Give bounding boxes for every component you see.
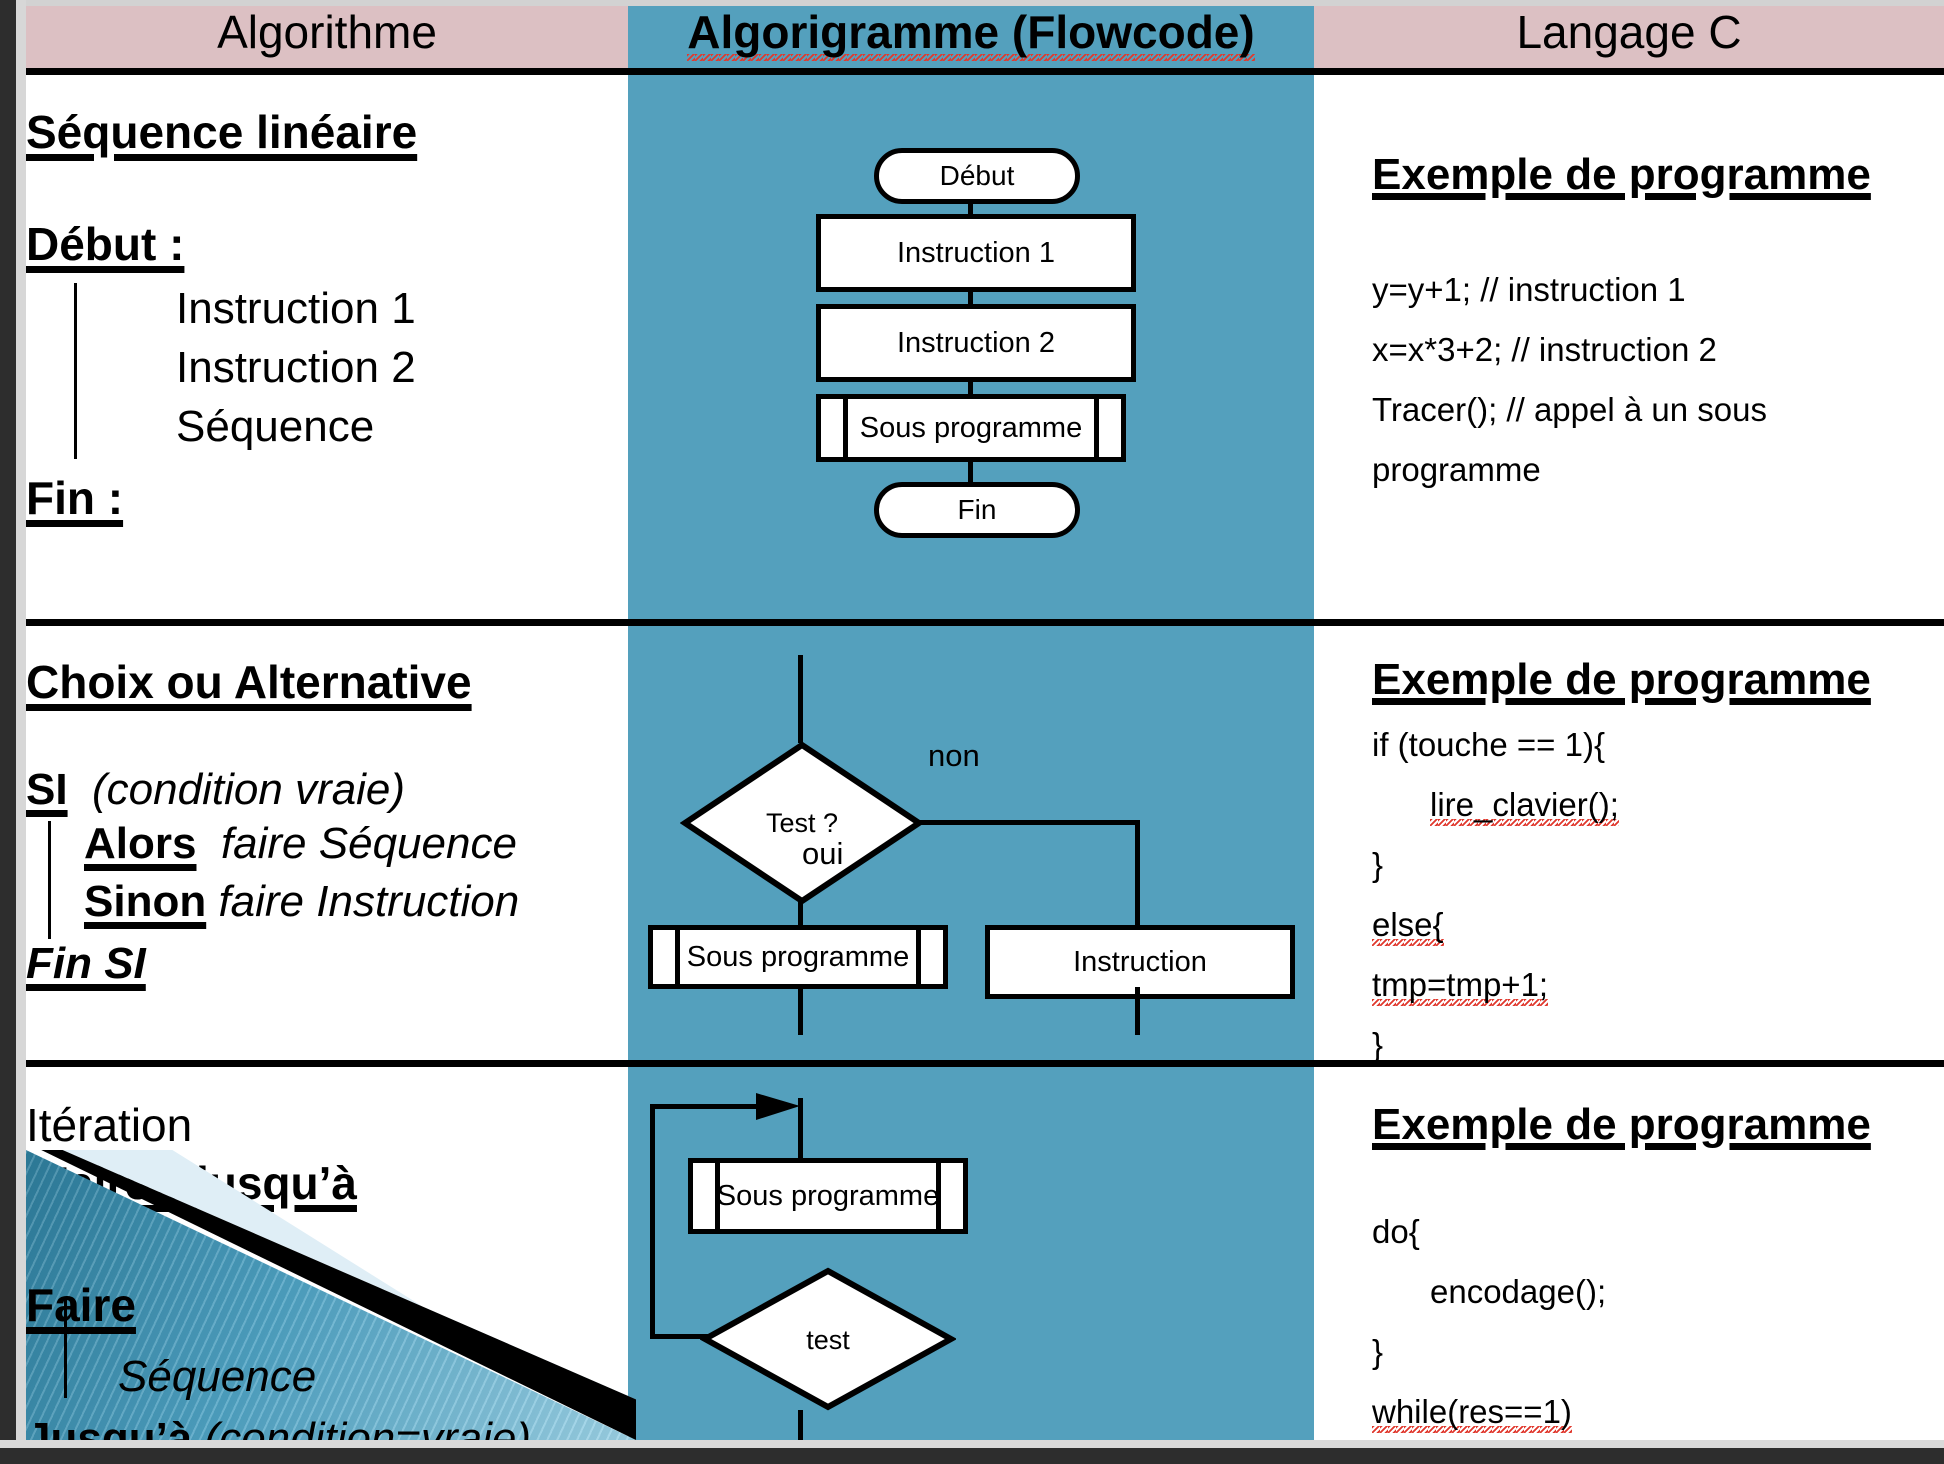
row1-line-3: Séquence <box>176 397 626 456</box>
row2-c-title: Exemple de programme <box>1372 655 1932 705</box>
row2-conn-exit-right <box>1135 987 1140 1035</box>
row1-brace <box>74 283 77 459</box>
row3-c-line-4: while(res==1) <box>1372 1393 1572 1437</box>
row3-c-line-3: } <box>1372 1322 1932 1382</box>
header-algorigramme-word: Algorigramme <box>687 6 999 65</box>
row1-c-title: Exemple de programme <box>1372 150 1932 200</box>
row3-decision-label: test <box>700 1325 956 1356</box>
row2-c-line-3: } <box>1372 835 1932 895</box>
row3-loop-arrowhead-icon <box>756 1090 806 1124</box>
row1-fin: Fin : <box>26 471 123 525</box>
row2-finsi: Fin SI <box>26 939 146 989</box>
row3-c-block: Exemple de programme do{ encodage(); } w… <box>1372 1100 1932 1442</box>
row2-sinon: Sinon <box>84 877 206 926</box>
row2-c-line-4: else{ <box>1372 906 1444 950</box>
frame-bottom-inner <box>0 1440 1944 1448</box>
row2-conn-non-h <box>918 820 1140 825</box>
row2-algorithm-block: Choix ou Alternative SI (condition vraie… <box>26 655 626 989</box>
row3-title-iteration: Itération <box>26 1098 626 1152</box>
row1-c-line-3: Tracer(); // appel à un sous <box>1372 380 1932 440</box>
row1-debut: Début : <box>26 217 184 271</box>
row2-c-line-6: } <box>1372 1015 1932 1075</box>
frame-left <box>0 0 16 1464</box>
row2-decision-label: Test ? <box>680 808 924 839</box>
row3-brace <box>64 1298 67 1398</box>
row1-algorithm-block: Séquence linéaire Début : Instruction 1 … <box>26 105 626 525</box>
row2-c-line-1: if (touche == 1){ <box>1372 715 1932 775</box>
row3-loop-rail-vertical <box>650 1104 655 1338</box>
row1-node-fin: Fin <box>874 482 1080 538</box>
row3-loop-rail-top <box>650 1104 770 1109</box>
row1-c-block: Exemple de programme y=y+1; // instructi… <box>1372 150 1932 500</box>
frame-top <box>0 0 1944 6</box>
row3-c-line-2: encodage(); <box>1430 1262 1932 1322</box>
row2-c-block: Exemple de programme if (touche == 1){ l… <box>1372 655 1932 1075</box>
row2-alors: Alors <box>84 819 196 868</box>
row2-c-line-2: lire_clavier(); <box>1430 786 1619 830</box>
row2-c-line-5: tmp=tmp+1; <box>1372 966 1548 1010</box>
row1-c-line-2: x=x*3+2; // instruction 2 <box>1372 320 1932 380</box>
row2-conn-exit-left <box>798 987 803 1035</box>
header-langage-c: Langage C <box>1314 0 1944 68</box>
row2-conn-non-v <box>1135 820 1140 928</box>
frame-left-inner <box>16 0 26 1464</box>
row3-c-title: Exemple de programme <box>1372 1100 1932 1150</box>
row1-c-line-1: y=y+1; // instruction 1 <box>1372 260 1932 320</box>
row1-c-line-4: programme <box>1372 440 1932 500</box>
row2-conn-oui-v <box>798 900 803 928</box>
header-algorithme: Algorithme <box>26 0 628 68</box>
row2-node-sousprogramme: Sous programme <box>648 925 948 989</box>
header-algorigramme-flowcode: (Flowcode) <box>999 6 1255 65</box>
row1-node-debut: Début <box>874 148 1080 204</box>
row3-faire: Faire <box>26 1279 136 1331</box>
divider-row1 <box>0 619 1944 626</box>
row1-node-instruction2: Instruction 2 <box>816 304 1136 382</box>
row2-alors-rest: faire Séquence <box>221 819 517 868</box>
row3-c-line-1: do{ <box>1372 1202 1932 1262</box>
row2-sinon-rest: faire Instruction <box>218 877 519 926</box>
row2-si: SI <box>26 765 68 814</box>
row1-line-1: Instruction 1 <box>176 279 626 338</box>
row1-line-2: Instruction 2 <box>176 338 626 397</box>
row3-algorithm-body: Faire Séquence Jusqu’à (condition=vraie) <box>26 1278 626 1464</box>
row3-node-sousprogramme: Sous programme <box>688 1158 968 1234</box>
frame-bottom <box>0 1448 1944 1464</box>
row2-conn-entry <box>798 655 803 743</box>
row2-node-instruction: Instruction <box>985 925 1295 999</box>
row2-title: Choix ou Alternative <box>26 655 626 709</box>
divider-header <box>0 68 1944 75</box>
row2-si-condition: (condition vraie) <box>92 765 405 814</box>
slide-canvas: Algorithme Algorigramme (Flowcode) Langa… <box>0 0 1944 1464</box>
row1-title: Séquence linéaire <box>26 105 626 159</box>
header-algorigramme: Algorigramme (Flowcode) <box>628 0 1314 68</box>
row1-node-sousprogramme: Sous programme <box>816 394 1126 462</box>
row2-label-oui: oui <box>802 836 843 872</box>
row2-brace <box>48 821 51 939</box>
row3-sequence: Séquence <box>118 1352 626 1402</box>
row1-node-instruction1: Instruction 1 <box>816 214 1136 292</box>
row2-label-non: non <box>928 738 980 774</box>
